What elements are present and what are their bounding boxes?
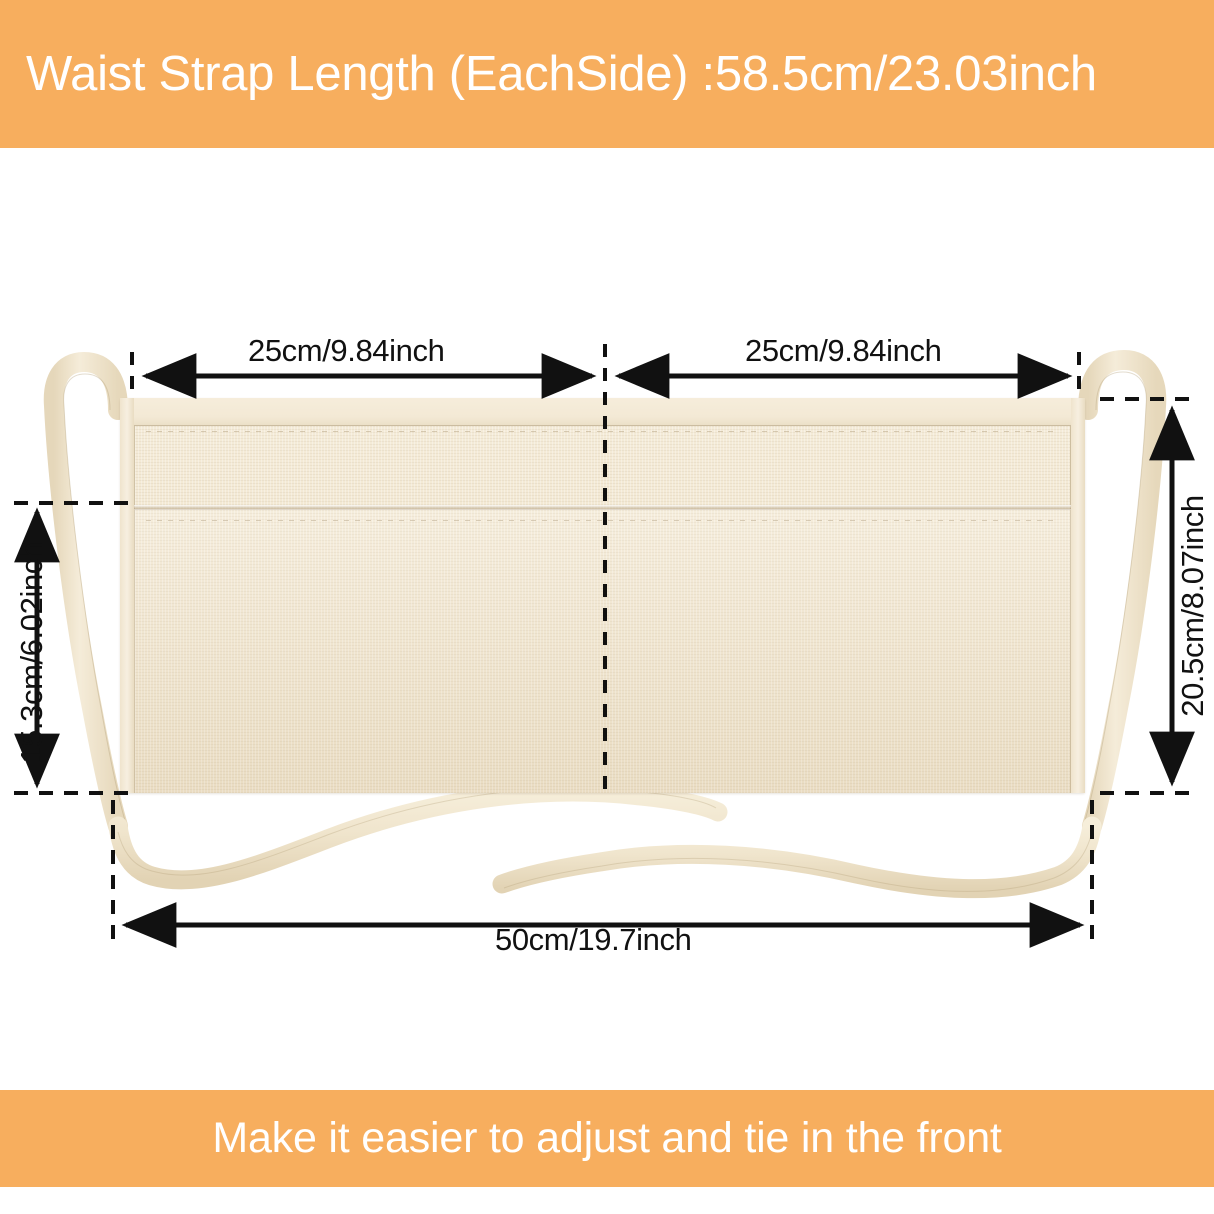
top-banner: Waist Strap Length (EachSide) :58.5cm/23… [0, 0, 1214, 148]
dim-label-pocket-depth: 15.3cm/6.02inch [14, 503, 50, 803]
diagram-canvas: Waist Strap Length (EachSide) :58.5cm/23… [0, 0, 1214, 1214]
apron-body-panel [120, 398, 1085, 793]
pocket-top-seam [134, 505, 1071, 510]
waistband-strip [134, 398, 1071, 426]
left-waist-strap-loop [54, 362, 126, 826]
right-waist-strap-loop [1084, 360, 1156, 826]
apron-left-edge [120, 398, 135, 793]
pocket-topstitch-line [146, 520, 1059, 521]
dim-label-pocket-right-width: 25cm/9.84inch [745, 333, 941, 369]
apron-right-edge [1070, 398, 1085, 793]
bottom-banner: Make it easier to adjust and tie in the … [0, 1090, 1214, 1187]
fabric-shading [134, 509, 1071, 793]
right-tie-strap [502, 826, 1092, 892]
top-banner-text: Waist Strap Length (EachSide) :58.5cm/23… [26, 50, 1097, 99]
bottom-banner-text: Make it easier to adjust and tie in the … [212, 1117, 1001, 1160]
dim-label-pocket-left-width: 25cm/9.84inch [248, 333, 444, 369]
dim-label-apron-height: 20.5cm/8.07inch [1175, 456, 1211, 756]
dim-label-apron-width: 50cm/19.7inch [495, 922, 691, 958]
waistband-stitch-line [146, 431, 1059, 432]
